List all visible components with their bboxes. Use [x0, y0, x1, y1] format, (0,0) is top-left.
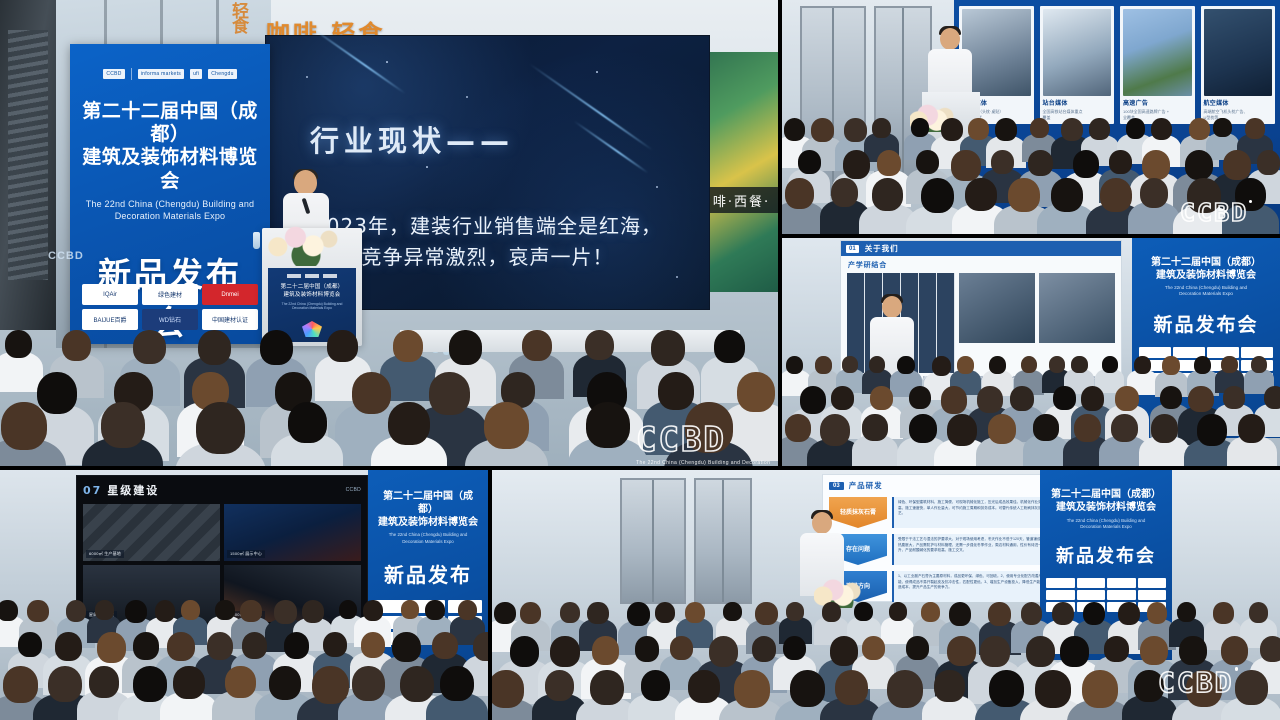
audience-member [854, 602, 872, 641]
audience-member [947, 414, 977, 466]
audience-head [1073, 150, 1099, 178]
audience-head [484, 402, 529, 449]
audience-head [1, 402, 47, 450]
audience-head [1126, 118, 1146, 139]
audience-head [641, 670, 670, 701]
audience-head [1134, 670, 1164, 702]
audience-head [1109, 150, 1132, 174]
audience-head [1189, 118, 1210, 140]
audience-head [854, 602, 872, 621]
audience-head [27, 600, 48, 622]
audience-member [1035, 670, 1071, 720]
audience-head [586, 402, 630, 448]
audience-head [835, 670, 869, 705]
audience-head [0, 600, 18, 621]
audience-head [1235, 178, 1266, 211]
audience-member [786, 602, 804, 640]
audience-head [429, 372, 470, 415]
audience-member [737, 372, 775, 452]
audience-member [1033, 414, 1058, 466]
audience-member [225, 666, 256, 720]
audience-head [585, 330, 614, 360]
audience-head [55, 632, 82, 661]
audience-head [785, 414, 812, 442]
audience-head [1249, 602, 1269, 623]
audience-head [811, 118, 834, 142]
audience-head [440, 666, 474, 701]
audience-head [1061, 118, 1083, 141]
audience-head [1140, 636, 1168, 665]
audience-head [339, 600, 357, 619]
audience-member [872, 178, 904, 234]
panel-product-strategy[interactable]: 03 产品研发 轻质抹灰石膏 绿色、环保型建筑材料，施工简便，可现场机械化施工，… [492, 470, 1280, 720]
audience-head [587, 602, 608, 624]
audience-head [545, 670, 575, 701]
audience-head [651, 330, 685, 366]
audience-head [870, 386, 893, 410]
audience-member [835, 670, 869, 720]
audience-member [1140, 178, 1169, 234]
audience-head [723, 602, 742, 621]
audience-member [989, 670, 1024, 720]
audience-head [1197, 414, 1227, 446]
audience-head [941, 118, 963, 141]
audience-head [1213, 602, 1234, 624]
panel-star-construction[interactable]: 07星级建设 CCBD 6000㎡ 生产基地 1500㎡ 展示中心 星级展厅建设… [0, 470, 488, 720]
audience-member [1074, 414, 1101, 466]
audience-head [906, 636, 929, 660]
audience-head [458, 600, 477, 620]
audience-head [822, 602, 841, 622]
audience-head [520, 602, 541, 624]
audience-member [1235, 178, 1266, 234]
audience-head [1060, 636, 1089, 667]
audience-head [1142, 150, 1170, 180]
audience-member [1008, 178, 1040, 234]
audience-head [843, 150, 870, 179]
audience-member [889, 602, 907, 640]
audience-crowd [782, 0, 1280, 234]
audience-head [198, 330, 232, 365]
audience-head [592, 636, 619, 665]
audience-member [842, 356, 858, 389]
audience-head [1257, 150, 1280, 175]
audience-head [862, 414, 887, 441]
audience-head [957, 356, 974, 374]
audience-head [1021, 356, 1038, 373]
audience-head [133, 666, 167, 702]
audience-head [1102, 356, 1118, 373]
audience-head [1028, 150, 1053, 176]
audience-crowd [492, 470, 1280, 720]
audience-head [260, 330, 293, 365]
audience-head [590, 670, 624, 705]
audience-head [1026, 636, 1055, 667]
audience-member [440, 666, 474, 720]
audience-head [752, 636, 777, 662]
audience-head [401, 600, 419, 619]
audience-head [133, 330, 166, 364]
audience-head [95, 600, 114, 620]
audience-head [1115, 386, 1139, 411]
audience-head [392, 632, 421, 662]
audience-member [1082, 670, 1118, 720]
audience-head [1221, 636, 1249, 665]
audience-member [5, 330, 32, 386]
audience-head [889, 602, 907, 621]
audience-head [916, 150, 939, 174]
audience-head [980, 636, 1009, 667]
audience-head [425, 600, 444, 620]
audience-head [989, 356, 1006, 374]
audience-head [1177, 602, 1196, 622]
audience-member [0, 600, 18, 642]
audience-head [1035, 670, 1071, 708]
audience-member [831, 178, 858, 234]
audience-head [1238, 414, 1265, 443]
audience-head [685, 602, 705, 623]
audience-head [1071, 356, 1087, 373]
audience-member [1051, 178, 1083, 234]
audience-member [1264, 386, 1280, 433]
audience-head [48, 666, 82, 702]
audience-member [988, 414, 1016, 466]
audience-head [1223, 386, 1244, 409]
audience-head [670, 636, 693, 660]
audience-head [877, 150, 902, 176]
audience-head [887, 670, 923, 708]
audience-head [1186, 670, 1222, 707]
audience-head [352, 372, 392, 414]
audience-head [872, 178, 904, 211]
audience-head [242, 632, 268, 659]
audience-head [1260, 636, 1280, 662]
audience-member [1221, 356, 1237, 390]
audience-head [284, 632, 310, 659]
audience-head [1162, 356, 1180, 375]
audience-member [492, 670, 524, 720]
audience-head [196, 402, 246, 454]
audience-head [1021, 602, 1043, 625]
audience-head [934, 670, 964, 702]
audience-head [1187, 178, 1221, 213]
audience-head [947, 636, 976, 666]
audience-head [1179, 636, 1206, 665]
audience-head [1074, 414, 1101, 442]
audience-head [786, 602, 804, 621]
audience-head [215, 600, 234, 620]
audience-head [909, 414, 937, 443]
audience-head [897, 356, 914, 374]
audience-head [655, 602, 675, 623]
audience-member [352, 666, 385, 720]
audience-head [288, 402, 327, 443]
audience-head [1221, 356, 1237, 373]
audience-head [363, 600, 383, 621]
audience-head [1245, 118, 1265, 139]
audience-head [400, 666, 434, 702]
audience-member [921, 178, 955, 234]
audience-head [786, 356, 803, 374]
audience-head [755, 602, 777, 625]
audience-head [449, 330, 482, 365]
panel-main-stage[interactable]: 轻食 咖啡 轻食 咖啡·西餐· 行业现状—— 2023年，建装行业销售端全是红海… [0, 0, 778, 466]
audience-head [1264, 386, 1280, 409]
audience-head [1030, 118, 1049, 138]
audience-member [1197, 414, 1227, 466]
audience-head [941, 386, 967, 414]
audience-head [1223, 150, 1251, 180]
panel-about-us[interactable]: 01 关于我们 产学研结合 成立以来申请专利多项，积极开展产学研合作，与清华大学… [782, 238, 1280, 466]
audience-head [872, 118, 891, 138]
audience-member [1111, 414, 1138, 466]
audience-head [1185, 150, 1214, 180]
audience-member [393, 330, 423, 394]
audience-head [1008, 178, 1040, 212]
audience-head [949, 602, 972, 626]
audience-head [473, 632, 488, 661]
audience-head [989, 670, 1024, 707]
audience-head [1151, 414, 1178, 443]
audience-head [1089, 118, 1110, 140]
audience-head [240, 600, 261, 622]
audience-head [995, 118, 1017, 141]
audience-head [1160, 386, 1182, 409]
audience-member [688, 670, 719, 720]
audience-head [62, 330, 91, 361]
audience-head [1081, 386, 1105, 411]
audience-head [167, 632, 195, 661]
audience-member [909, 414, 937, 466]
audience-head [869, 356, 885, 373]
audience-head [522, 330, 552, 361]
audience-member [484, 402, 529, 466]
audience-head [831, 178, 858, 207]
audience-head [785, 178, 814, 209]
audience-head [635, 636, 659, 662]
audience-head [1100, 178, 1132, 212]
audience-head [988, 602, 1011, 626]
audience-member [1186, 670, 1222, 720]
audience-member [934, 670, 964, 720]
audience-head [492, 670, 524, 708]
audience-head [269, 666, 301, 700]
audience-head [688, 670, 719, 703]
audience-crowd [0, 0, 778, 466]
audience-member [1151, 414, 1178, 466]
audience-head [790, 670, 825, 707]
photo-collage: 轻食 咖啡 轻食 咖啡·西餐· 行业现状—— 2023年，建装行业销售端全是红海… [0, 0, 1280, 720]
audience-head [783, 636, 806, 660]
audience-head [844, 118, 867, 142]
audience-head [207, 632, 234, 660]
audience-head [951, 150, 980, 181]
audience-head [1118, 602, 1140, 625]
audience-head [862, 636, 885, 660]
audience-head [968, 118, 989, 140]
audience-member [1251, 356, 1267, 390]
audience-head [361, 632, 385, 658]
audience-member [1238, 414, 1265, 466]
audience-head [125, 600, 147, 623]
audience-head [101, 402, 145, 448]
audience-head [831, 386, 854, 410]
audience-member [545, 670, 575, 720]
audience-head [932, 356, 951, 376]
audience-head [66, 600, 87, 622]
audience-member [1049, 356, 1065, 390]
audience-head [714, 330, 745, 363]
audience-head [560, 602, 580, 623]
audience-head [921, 178, 955, 213]
audience-member [641, 670, 670, 720]
audience-head [988, 414, 1016, 444]
audience-head [1051, 178, 1083, 212]
audience-head [798, 150, 821, 174]
audience-head [842, 356, 858, 373]
audience-head [1082, 670, 1118, 708]
audience-member [288, 402, 327, 466]
audience-head [510, 636, 540, 667]
audience-head [800, 386, 826, 414]
audience-head [909, 386, 931, 409]
audience-head [1251, 356, 1267, 373]
audience-head [1147, 602, 1168, 624]
audience-head [155, 600, 176, 622]
audience-head [1104, 636, 1129, 662]
audience-head [1140, 178, 1169, 208]
audience-head [18, 632, 42, 657]
audience-head [133, 632, 159, 660]
audience-head [1213, 118, 1231, 137]
audience-member [785, 178, 814, 234]
audience-crowd [0, 470, 488, 720]
audience-head [1053, 386, 1076, 410]
audience-head [947, 414, 977, 446]
audience-head [393, 330, 423, 362]
audience-head [921, 602, 940, 622]
audience-crowd [782, 238, 1280, 466]
audience-head [494, 602, 515, 624]
audience-head [737, 372, 775, 412]
audience-head [965, 178, 997, 211]
audience-head [432, 632, 458, 659]
audience-head [977, 386, 1003, 413]
audience-member [473, 632, 488, 690]
audience-member [590, 670, 624, 720]
audience-head [911, 118, 929, 137]
audience-head [388, 402, 429, 445]
audience-head [685, 402, 733, 453]
audience-head [1010, 386, 1034, 411]
audience-head [1194, 356, 1211, 374]
audience-member [101, 402, 145, 466]
audience-head [1033, 414, 1058, 441]
audience-head [352, 666, 385, 701]
audience-member [685, 402, 733, 466]
audience-member [1134, 670, 1164, 720]
audience-head [173, 666, 205, 699]
audience-member [887, 670, 923, 720]
audience-member [1, 402, 47, 466]
audience-member [1235, 670, 1268, 720]
audience-head [97, 632, 126, 663]
audience-head [327, 330, 357, 362]
audience-member [173, 666, 205, 720]
audience-head [1188, 386, 1213, 412]
panel-media-channels[interactable]: 列车媒体 高铁列车（头枕·桌贴） 等多种形式 站台媒体 全国高铁站台媒体重点 覆… [782, 0, 1280, 234]
audience-member [89, 666, 119, 720]
audience-head [1111, 414, 1138, 442]
audience-head [820, 414, 851, 446]
audience-head [627, 602, 650, 626]
audience-head [1134, 356, 1151, 374]
audience-head [181, 600, 200, 620]
audience-member [388, 402, 429, 466]
audience-member [820, 414, 851, 466]
audience-head [709, 636, 739, 667]
audience-head [1083, 602, 1105, 625]
audience-head [784, 118, 806, 141]
audience-member [196, 402, 246, 466]
audience-member [1102, 356, 1118, 390]
audience-head [1151, 118, 1172, 140]
audience-head [5, 330, 32, 358]
audience-head [274, 600, 297, 624]
audience-member [1187, 178, 1221, 234]
audience-head [1049, 356, 1065, 373]
audience-head [991, 150, 1014, 174]
audience-head [815, 356, 832, 374]
audience-member [734, 670, 770, 720]
audience-head [1235, 670, 1268, 705]
audience-head [3, 666, 38, 703]
audience-member [862, 414, 887, 466]
audience-head [302, 600, 324, 623]
audience-member [269, 666, 301, 720]
audience-head [312, 666, 348, 704]
audience-head [89, 666, 119, 698]
audience-head [323, 632, 347, 657]
audience-member [965, 178, 997, 234]
audience-head [734, 670, 770, 708]
audience-member [586, 402, 630, 466]
audience-head [1052, 602, 1074, 625]
audience-head [225, 666, 256, 698]
audience-head [550, 636, 580, 667]
